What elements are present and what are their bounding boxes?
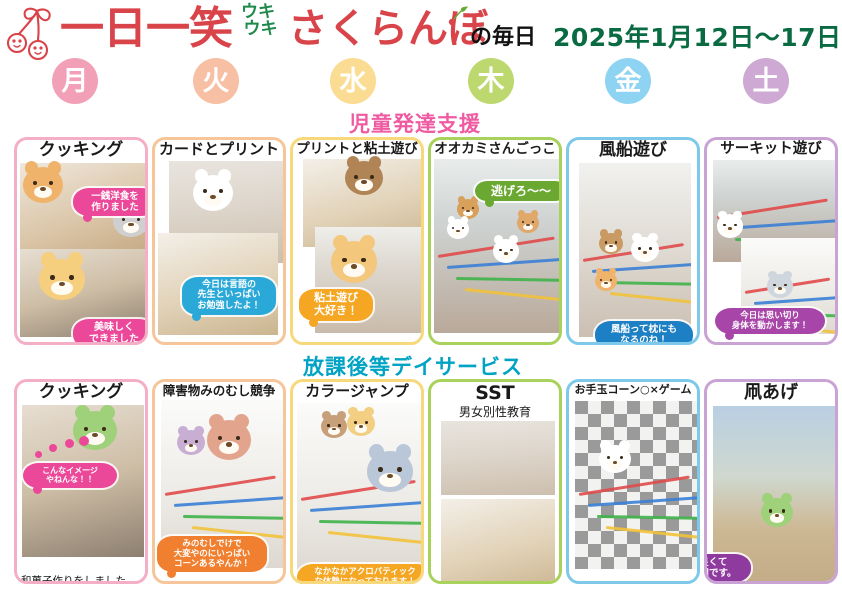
eye bbox=[610, 279, 612, 281]
eye bbox=[69, 275, 74, 280]
muzzle bbox=[453, 230, 463, 237]
eye bbox=[522, 221, 524, 223]
eye bbox=[354, 421, 357, 424]
floor-tape bbox=[174, 496, 283, 507]
activity-card-title: お手玉コーン○×ゲーム bbox=[569, 382, 697, 397]
muzzle bbox=[608, 460, 623, 470]
muzzle bbox=[355, 179, 372, 190]
page-title-main: 一日一笑 bbox=[60, 6, 232, 52]
muzzle bbox=[500, 252, 512, 260]
eye bbox=[195, 440, 198, 443]
muzzle bbox=[204, 194, 222, 206]
activity-card-title: プリントと粘土遊び bbox=[293, 140, 421, 157]
floor-tape bbox=[319, 520, 423, 525]
muzzle bbox=[219, 441, 239, 454]
activity-card-title: クッキング bbox=[17, 140, 145, 161]
ear bbox=[619, 440, 630, 451]
page-title-suffix: の毎日 bbox=[470, 26, 536, 50]
weekday-row: 月火水木金土 bbox=[0, 58, 842, 106]
ear bbox=[448, 216, 455, 223]
weekday-label: 木 bbox=[478, 68, 505, 95]
tiger-face-sticker bbox=[39, 259, 85, 300]
rabbit-face-sticker bbox=[631, 237, 659, 262]
cherry-sprig-icon bbox=[448, 4, 470, 26]
ear bbox=[25, 161, 39, 175]
eye bbox=[342, 258, 347, 263]
eye bbox=[327, 424, 330, 427]
nose bbox=[359, 425, 363, 428]
activity-card-photos: 逃げろ〜〜 bbox=[431, 157, 559, 331]
ear bbox=[68, 252, 84, 268]
eye bbox=[184, 440, 187, 443]
thought-dot bbox=[49, 444, 57, 452]
eye bbox=[769, 509, 772, 512]
giraffe-face-sticker bbox=[347, 411, 375, 436]
nose bbox=[526, 224, 529, 226]
eye bbox=[649, 247, 652, 250]
eye bbox=[532, 221, 534, 223]
activity-card[interactable]: お手玉コーン○×ゲーム bbox=[566, 379, 700, 584]
nose bbox=[128, 223, 133, 227]
cherry-icon bbox=[6, 4, 68, 62]
muzzle bbox=[51, 281, 72, 295]
eye bbox=[361, 258, 366, 263]
nose bbox=[604, 282, 607, 284]
activity-card-title: サーキット遊び bbox=[707, 140, 835, 158]
page-date-range: 2025年1月12日〜17日 bbox=[553, 24, 842, 52]
muzzle bbox=[343, 263, 364, 277]
fox-face-sticker bbox=[517, 213, 539, 233]
ear bbox=[783, 271, 792, 280]
weekday-circle-4: 金 bbox=[605, 58, 651, 104]
eye bbox=[33, 181, 37, 185]
ear bbox=[369, 156, 382, 169]
muzzle bbox=[185, 444, 198, 452]
ear bbox=[718, 211, 727, 220]
muzzle bbox=[770, 513, 785, 523]
ear bbox=[458, 196, 465, 203]
eye bbox=[102, 427, 106, 431]
weekday-label: 金 bbox=[615, 68, 642, 95]
nose bbox=[92, 433, 98, 437]
activity-card-photos: こんなイメージ やねんな！！ bbox=[17, 403, 145, 574]
eye bbox=[354, 175, 358, 179]
ear bbox=[41, 252, 57, 268]
eye bbox=[638, 247, 641, 250]
cat-face-sticker bbox=[331, 241, 377, 282]
boar-face-sticker bbox=[207, 420, 251, 460]
ear bbox=[461, 216, 468, 223]
ear bbox=[614, 229, 622, 237]
activity-card-subtitle: 男女別性教育 bbox=[431, 406, 559, 419]
tiger-face-sticker bbox=[23, 167, 63, 203]
eye bbox=[782, 509, 785, 512]
eye bbox=[84, 427, 88, 431]
floor-tape bbox=[610, 292, 691, 306]
activity-card-photos: 風船って枕にも なるのね！ bbox=[569, 161, 697, 335]
newsletter-page: 一日一笑 ウキ ウキ さくらんぼ の毎日 2025年1月12日〜17日 月火水木… bbox=[0, 0, 842, 595]
activity-card[interactable]: カラージャンプなかなかアクロバティック な体勢になっております！ bbox=[290, 379, 424, 584]
ear bbox=[596, 268, 603, 275]
section-label-houkago-day-service: 放課後等デイサービス bbox=[303, 351, 523, 381]
eye bbox=[365, 421, 368, 424]
ear bbox=[194, 426, 204, 436]
weekday-label: 月 bbox=[62, 68, 89, 95]
eye bbox=[397, 467, 402, 472]
weekday-circle-2: 水 bbox=[330, 58, 376, 104]
nose bbox=[59, 282, 65, 287]
activity-card[interactable]: SST男女別性教育 bbox=[428, 379, 562, 584]
activity-card[interactable]: 凧あげ天気が良くて 凧あげ日和です。 bbox=[704, 379, 838, 584]
floor-tape bbox=[456, 277, 562, 282]
dog-face-sticker bbox=[321, 415, 347, 438]
activity-card-title: オオカミさんごっこ bbox=[431, 140, 559, 157]
muzzle bbox=[774, 287, 786, 295]
activity-card[interactable]: クッキングこんなイメージ やねんな！！和菓子作りをしました。 bbox=[14, 379, 148, 584]
weekday-label: 水 bbox=[340, 68, 367, 95]
activity-card-title: クッキング bbox=[17, 382, 145, 403]
ear bbox=[531, 210, 538, 217]
eye bbox=[452, 227, 454, 229]
speech-bubble: 粘土遊び 大好き！ bbox=[299, 289, 373, 321]
floor-tape bbox=[310, 501, 423, 512]
eye bbox=[370, 175, 374, 179]
speech-bubble: なかなかアクロバティック な体勢になっております！ bbox=[297, 564, 424, 584]
ear bbox=[234, 414, 249, 429]
nose bbox=[778, 287, 782, 290]
speech-bubble: こんなイメージ やねんな！！ bbox=[23, 463, 117, 488]
activity-card-photos: みのむしでけで 大変やのにいっぱい コーンあるやんか！ bbox=[155, 398, 283, 569]
nose bbox=[40, 187, 46, 191]
eye bbox=[784, 284, 787, 287]
page-header: 一日一笑 ウキ ウキ さくらんぼ の毎日 2025年1月12日〜17日 月火水木… bbox=[0, 0, 842, 110]
eye bbox=[462, 207, 464, 209]
muzzle bbox=[605, 244, 616, 251]
ear bbox=[600, 440, 611, 451]
muzzle bbox=[123, 222, 140, 233]
activity-card-photos: 今日は思い切り 身体を動かします！ bbox=[707, 158, 835, 332]
rabbit-face-sticker bbox=[599, 445, 631, 474]
eye bbox=[472, 207, 474, 209]
page-title-uki: ウキ ウキ bbox=[232, 4, 284, 38]
nose bbox=[504, 252, 508, 255]
uki-line-2: ウキ bbox=[237, 21, 284, 38]
muzzle bbox=[639, 250, 652, 258]
activity-photo bbox=[575, 401, 697, 569]
eye bbox=[218, 436, 222, 440]
speech-bubble: みのむしでけで 大変やのにいっぱい コーンあるやんか！ bbox=[157, 536, 267, 572]
ear bbox=[48, 161, 62, 175]
weekday-circle-0: 月 bbox=[52, 58, 98, 104]
nose bbox=[210, 195, 216, 199]
nose bbox=[613, 461, 617, 464]
activity-card-title: 風船遊び bbox=[569, 140, 697, 161]
nose bbox=[609, 245, 612, 247]
ear bbox=[518, 210, 525, 217]
speech-bubble: 天気が良くて 凧あげ日和です。 bbox=[704, 554, 751, 582]
floor-tape bbox=[328, 531, 423, 546]
ear bbox=[218, 169, 232, 183]
activity-photo bbox=[441, 499, 555, 584]
nose bbox=[351, 264, 357, 269]
muzzle bbox=[379, 473, 400, 487]
floor-tape bbox=[183, 515, 283, 520]
ear bbox=[733, 211, 742, 220]
eye bbox=[122, 218, 126, 222]
activity-card[interactable]: 風船遊び風船って枕にも なるのね！ bbox=[566, 137, 700, 345]
activity-card-photos bbox=[569, 397, 697, 568]
activity-card-photos: 天気が良くて 凧あげ日和です。 bbox=[707, 404, 835, 575]
activity-photo bbox=[441, 421, 555, 495]
ear bbox=[762, 493, 773, 504]
ear bbox=[396, 444, 412, 460]
ear bbox=[494, 235, 503, 244]
weekday-label: 土 bbox=[753, 68, 780, 95]
weekday-circle-1: 火 bbox=[193, 58, 239, 104]
muzzle bbox=[328, 427, 340, 435]
eye bbox=[378, 467, 383, 472]
thought-dots bbox=[35, 433, 81, 463]
weekday-label: 火 bbox=[203, 68, 230, 95]
activity-card-photos: 今日は言語の 先生といっぱい お勉強したよ！ bbox=[155, 159, 283, 333]
koala-face-sticker bbox=[367, 451, 413, 492]
eye bbox=[773, 284, 776, 287]
floor-tape bbox=[588, 496, 697, 507]
nose bbox=[387, 474, 393, 479]
ear bbox=[178, 426, 188, 436]
thought-dot bbox=[35, 451, 42, 458]
activity-card-photos: 粘土遊び 大好き！ bbox=[293, 157, 421, 331]
eye bbox=[723, 224, 726, 227]
nose bbox=[361, 180, 366, 184]
tiger-face-sticker bbox=[595, 271, 617, 291]
ear bbox=[333, 235, 349, 251]
speech-bubble: 一銭洋食を 作りました bbox=[73, 188, 148, 216]
eye bbox=[615, 241, 617, 243]
muzzle bbox=[601, 281, 611, 288]
ear bbox=[348, 407, 358, 417]
eye bbox=[236, 436, 240, 440]
activity-card-title: カラージャンプ bbox=[293, 382, 421, 401]
ear bbox=[600, 229, 608, 237]
ear bbox=[347, 156, 360, 169]
animal-face-sticker bbox=[457, 199, 479, 219]
activity-card[interactable]: クッキング一銭洋食を 作りました美味しく できました bbox=[14, 137, 148, 345]
ear bbox=[209, 414, 224, 429]
eye bbox=[338, 424, 341, 427]
thought-dot bbox=[79, 436, 89, 446]
chicken-face-sticker bbox=[193, 175, 233, 211]
nose bbox=[332, 428, 336, 431]
speech-bubble: 今日は言語の 先生といっぱい お勉強したよ！ bbox=[182, 277, 276, 315]
eye bbox=[499, 249, 502, 252]
eye bbox=[219, 189, 223, 193]
floor-tape bbox=[579, 475, 690, 495]
activity-card[interactable]: オオカミさんごっこ逃げろ〜〜 bbox=[428, 137, 562, 345]
weekday-circle-5: 土 bbox=[743, 58, 789, 104]
activity-card-title: SST bbox=[431, 382, 559, 405]
activity-card[interactable]: サーキット遊び今日は思い切り 身体を動かします！ bbox=[704, 137, 838, 345]
floor-tape bbox=[597, 515, 697, 520]
activity-card-title: 障害物みのむし競争 bbox=[155, 382, 283, 398]
eye bbox=[510, 249, 513, 252]
ear bbox=[364, 407, 374, 417]
ear bbox=[781, 493, 792, 504]
speech-bubble: 逃げろ〜〜 bbox=[475, 181, 562, 201]
weekday-circle-3: 木 bbox=[468, 58, 514, 104]
elephant-face-sticker bbox=[767, 274, 793, 297]
ear bbox=[337, 411, 346, 420]
activity-card[interactable]: カードとプリント今日は言語の 先生といっぱい お勉強したよ！ bbox=[152, 137, 286, 345]
muzzle bbox=[724, 227, 736, 235]
muzzle bbox=[355, 424, 368, 432]
ear bbox=[195, 169, 209, 183]
ear bbox=[322, 411, 331, 420]
activity-card-title: カードとプリント bbox=[155, 140, 283, 159]
panda-face-sticker bbox=[493, 239, 519, 262]
ear bbox=[100, 405, 115, 420]
activity-card-footer: 和菓子作りをしました。 bbox=[17, 574, 145, 584]
ear bbox=[632, 233, 642, 243]
muzzle bbox=[34, 186, 52, 198]
nose bbox=[775, 514, 779, 517]
thought-dot bbox=[65, 439, 74, 448]
eye bbox=[50, 275, 55, 280]
eye bbox=[49, 181, 53, 185]
eye bbox=[607, 456, 610, 459]
eye bbox=[137, 218, 141, 222]
activity-card-title: 凧あげ bbox=[707, 382, 835, 404]
floor-tape bbox=[465, 288, 562, 303]
animal-face-sticker bbox=[447, 219, 469, 239]
floor-tape bbox=[754, 296, 837, 305]
eye bbox=[734, 224, 737, 227]
floor-tape bbox=[606, 526, 697, 541]
speech-bubble: 美味しく できました bbox=[73, 319, 148, 345]
speech-bubble: 風船って枕にも なるのね！ bbox=[595, 321, 693, 345]
section-label-jidou-hattatsu-shien: 児童発達支援 bbox=[349, 108, 481, 138]
nose bbox=[728, 227, 732, 230]
frog-face-sticker bbox=[761, 498, 793, 527]
muzzle bbox=[523, 224, 533, 231]
activity-card-photos: 一銭洋食を 作りました美味しく できました bbox=[17, 161, 145, 335]
eye bbox=[620, 456, 623, 459]
ear bbox=[369, 444, 385, 460]
floor-tape bbox=[165, 475, 276, 495]
activity-card-photos: なかなかアクロバティック な体勢になっております！ bbox=[293, 401, 421, 572]
cow-face-sticker bbox=[717, 214, 743, 237]
speech-bubble: 今日は思い切り 身体を動かします！ bbox=[715, 308, 825, 334]
activity-card-photos bbox=[431, 419, 559, 568]
activity-card[interactable]: プリントと粘土遊び粘土遊び 大好き！ bbox=[290, 137, 424, 345]
eye bbox=[203, 189, 207, 193]
eye bbox=[462, 227, 464, 229]
nose bbox=[226, 442, 232, 446]
ear bbox=[75, 405, 90, 420]
activity-card[interactable]: 障害物みのむし競争みのむしでけで 大変やのにいっぱい コーンあるやんか！ bbox=[152, 379, 286, 584]
nose bbox=[189, 444, 193, 447]
nose bbox=[643, 251, 647, 254]
ear bbox=[768, 271, 777, 280]
nose bbox=[466, 210, 469, 212]
nose bbox=[456, 230, 459, 232]
